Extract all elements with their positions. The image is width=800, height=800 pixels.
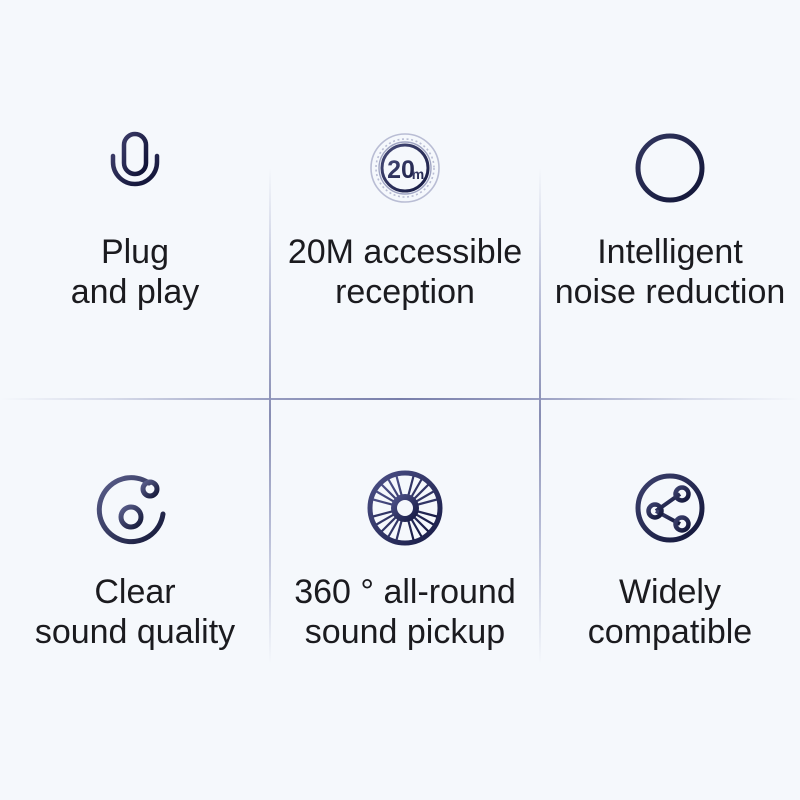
feature-cell-noise-reduction: Intelligent noise reduction xyxy=(540,90,800,430)
feature-cell-sound-quality: Clear sound quality xyxy=(0,430,270,770)
feature-cell-360-pickup: 360 ° all-round sound pickup xyxy=(270,430,540,770)
feature-label-line2: and play xyxy=(71,272,200,312)
microphone-icon xyxy=(93,118,177,218)
feature-label-line1: Intelligent xyxy=(555,232,786,272)
spoked-wheel-icon xyxy=(363,458,447,558)
feature-label-noise-reduction: Intelligent noise reduction xyxy=(555,232,786,312)
feature-label-line2: sound quality xyxy=(35,612,235,652)
vertical-divider-1 xyxy=(269,168,271,664)
feature-label-line1: Widely xyxy=(588,572,752,612)
vertical-divider-2 xyxy=(539,168,541,664)
feature-label-line2: noise reduction xyxy=(555,272,786,312)
feature-label-line1: 360 ° all-round xyxy=(294,572,516,612)
badge-value-text: 20 xyxy=(387,156,415,184)
feature-label-360-pickup: 360 ° all-round sound pickup xyxy=(294,572,516,652)
feature-grid: Plug and play 20 m 20M acc xyxy=(0,0,800,800)
horizontal-divider xyxy=(0,398,800,400)
20m-range-badge-icon: 20 m xyxy=(363,118,447,218)
feature-label-sound-quality: Clear sound quality xyxy=(35,572,235,652)
feature-label-line2: reception xyxy=(288,272,522,312)
share-network-circle-icon xyxy=(628,458,712,558)
feature-cell-plug-and-play: Plug and play xyxy=(0,90,270,430)
feature-label-20m-reception: 20M accessible reception xyxy=(288,232,522,312)
feature-label-widely-compatible: Widely compatible xyxy=(588,572,752,652)
feature-label-plug-and-play: Plug and play xyxy=(71,232,200,312)
feature-label-line2: compatible xyxy=(588,612,752,652)
music-note-circle-icon xyxy=(93,458,177,558)
feature-cell-20m-reception: 20 m 20M accessible reception xyxy=(270,90,540,430)
sound-wave-circle-icon xyxy=(628,118,712,218)
feature-label-line1: Clear xyxy=(35,572,235,612)
badge-unit-text: m xyxy=(412,166,424,182)
feature-label-line1: Plug xyxy=(71,232,200,272)
feature-label-line1: 20M accessible xyxy=(288,232,522,272)
feature-label-line2: sound pickup xyxy=(294,612,516,652)
feature-cell-widely-compatible: Widely compatible xyxy=(540,430,800,770)
